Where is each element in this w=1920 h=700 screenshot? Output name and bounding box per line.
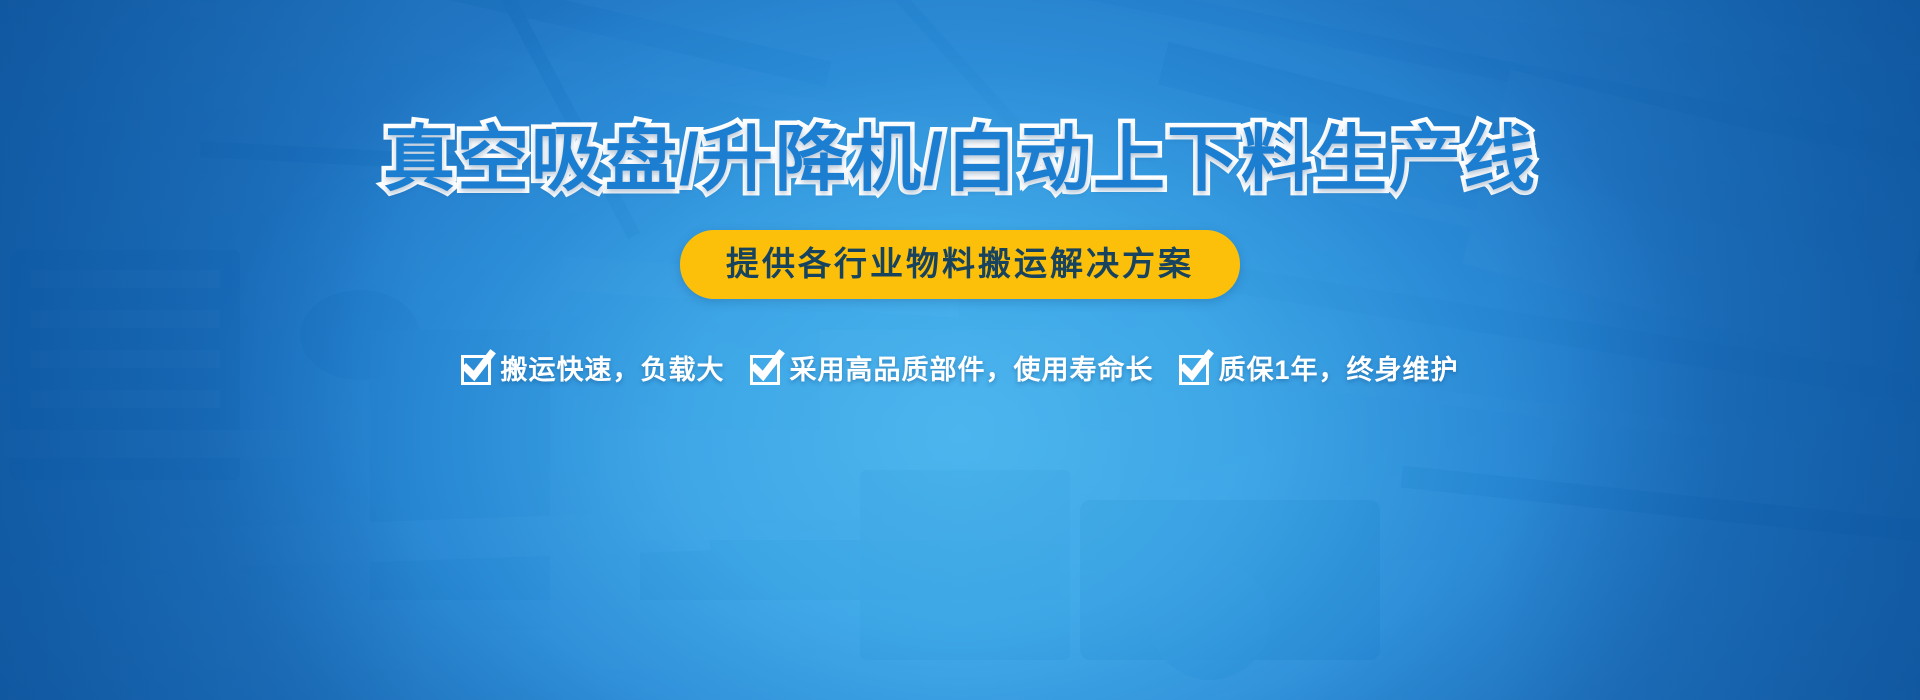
feature-list: 搬运快速，负载大 采用高品质部件，使用寿命长 质保1年，终身维护 xyxy=(461,355,1458,385)
hero-banner: 真空吸盘/升降机/自动上下料生产线 提供各行业物料搬运解决方案 搬运快速，负载大… xyxy=(0,0,1920,700)
checkbox-check-icon xyxy=(1179,355,1209,385)
banner-title: 真空吸盘/升降机/自动上下料生产线 xyxy=(383,124,1537,196)
feature-label: 质保1年，终身维护 xyxy=(1218,357,1458,384)
feature-label: 搬运快速，负载大 xyxy=(500,357,724,384)
feature-item: 搬运快速，负载大 xyxy=(461,355,724,385)
feature-item: 质保1年，终身维护 xyxy=(1179,355,1458,385)
feature-item: 采用高品质部件，使用寿命长 xyxy=(750,355,1153,385)
feature-label: 采用高品质部件，使用寿命长 xyxy=(789,357,1153,384)
checkbox-check-icon xyxy=(461,355,491,385)
banner-content: 真空吸盘/升降机/自动上下料生产线 提供各行业物料搬运解决方案 搬运快速，负载大… xyxy=(0,0,1920,700)
banner-subtitle-pill: 提供各行业物料搬运解决方案 xyxy=(680,230,1240,299)
checkbox-check-icon xyxy=(750,355,780,385)
